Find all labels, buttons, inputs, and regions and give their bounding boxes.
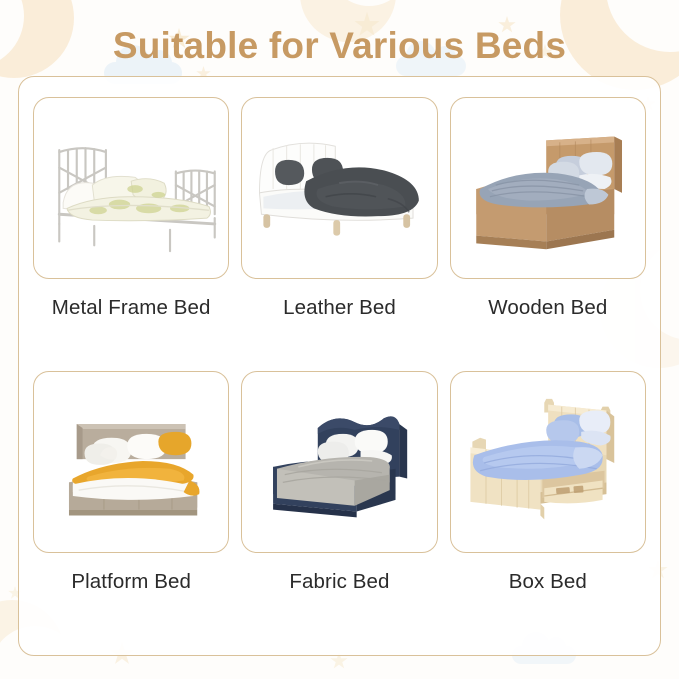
bed-card-fabric-bed[interactable] [241, 371, 437, 553]
bed-card-platform-bed[interactable] [33, 371, 229, 553]
box-bed-photo [451, 372, 645, 552]
bed-card-box-bed[interactable] [450, 371, 646, 553]
leather-bed-photo [242, 98, 436, 278]
bed-card-label: Fabric Bed [289, 570, 389, 594]
bed-card-label: Wooden Bed [488, 296, 607, 320]
bed-card-metal-frame-bed[interactable] [33, 97, 229, 279]
bed-type-cell: Leather Bed [241, 97, 437, 371]
bed-card-label: Platform Bed [71, 570, 191, 594]
bed-type-cell: Fabric Bed [241, 371, 437, 645]
bed-card-label: Leather Bed [283, 296, 396, 320]
bed-types-grid: Metal Frame Bed [33, 97, 646, 645]
platform-bed-photo [34, 372, 228, 552]
bed-type-cell: Box Bed [450, 371, 646, 645]
page-root: Suitable for Various Beds [0, 0, 679, 679]
bed-type-cell: Metal Frame Bed [33, 97, 229, 371]
bed-type-cell: Wooden Bed [450, 97, 646, 371]
bed-types-panel: Metal Frame Bed [18, 76, 661, 656]
page-title: Suitable for Various Beds [0, 20, 679, 72]
bed-card-leather-bed[interactable] [241, 97, 437, 279]
metal-frame-bed-photo [34, 98, 228, 278]
bed-card-label: Metal Frame Bed [52, 296, 211, 320]
bed-card-label: Box Bed [509, 570, 587, 594]
fabric-bed-photo [242, 372, 436, 552]
wooden-bed-photo [451, 98, 645, 278]
bed-card-wooden-bed[interactable] [450, 97, 646, 279]
bed-type-cell: Platform Bed [33, 371, 229, 645]
